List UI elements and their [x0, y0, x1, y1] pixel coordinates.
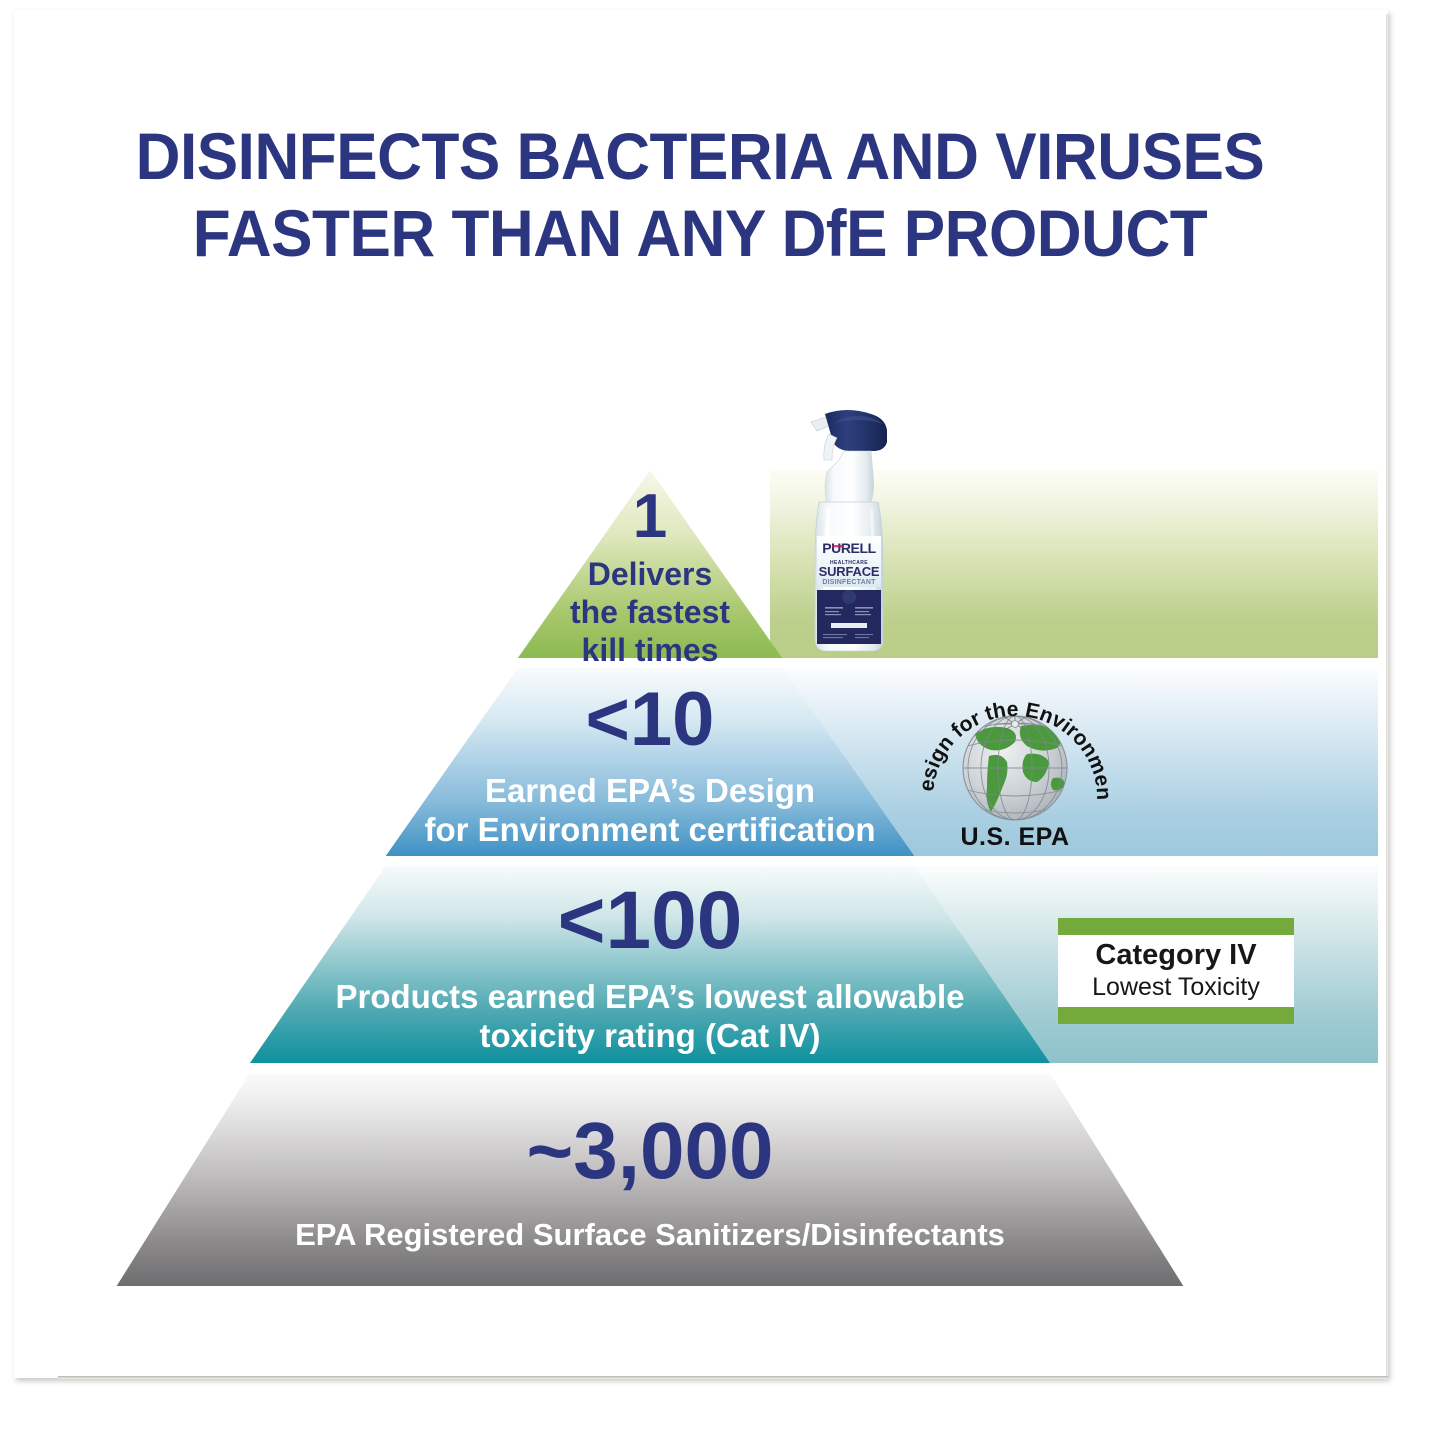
badge-body: Category IV Lowest Toxicity: [1058, 935, 1294, 1007]
badge-top-bar: [1058, 918, 1294, 935]
headline-line-1: DISINFECTS BACTERIA AND VIRUSES: [42, 118, 1358, 195]
page-title: DISINFECTS BACTERIA AND VIRUSES FASTER T…: [42, 118, 1358, 272]
bottle-line-3-text: DISINFECTANT: [822, 579, 876, 586]
card-right-edge: [1386, 14, 1388, 1376]
category-badge: Category IV Lowest Toxicity: [1058, 918, 1294, 1024]
pyramid-tier-4: ~3,000 EPA Registered Surface Sanitizers…: [60, 1073, 1240, 1286]
bottle-line-2-text: SURFACE: [819, 564, 880, 579]
card-bottom-edge: [58, 1376, 1388, 1379]
headline-line-2: FASTER THAN ANY DfE PRODUCT: [42, 195, 1358, 272]
design-for-the-environment-logo: Design for the Environment U.S. EPA: [915, 690, 1115, 855]
badge-title: Category IV: [1095, 940, 1256, 970]
pyramid-chart: 1 Delivers the fastest kill times <10 Ea…: [60, 460, 1240, 1290]
pyramid-tier-1: 1 Delivers the fastest kill times: [60, 470, 1240, 658]
badge-bottom-bar: [1058, 1007, 1294, 1024]
purell-spray-bottle-image: PURELL HEALTHCARE SURFACE DISINFECTANT: [799, 404, 895, 657]
infographic-page: DISINFECTS BACTERIA AND VIRUSES FASTER T…: [0, 0, 1445, 1445]
tier-1-shape: [60, 470, 1240, 658]
badge-subtitle: Lowest Toxicity: [1092, 973, 1260, 1002]
dfe-footer-text: U.S. EPA: [960, 823, 1069, 851]
bottle-brand-text: PURELL: [822, 540, 876, 556]
tier-4-shape: [60, 1073, 1240, 1286]
